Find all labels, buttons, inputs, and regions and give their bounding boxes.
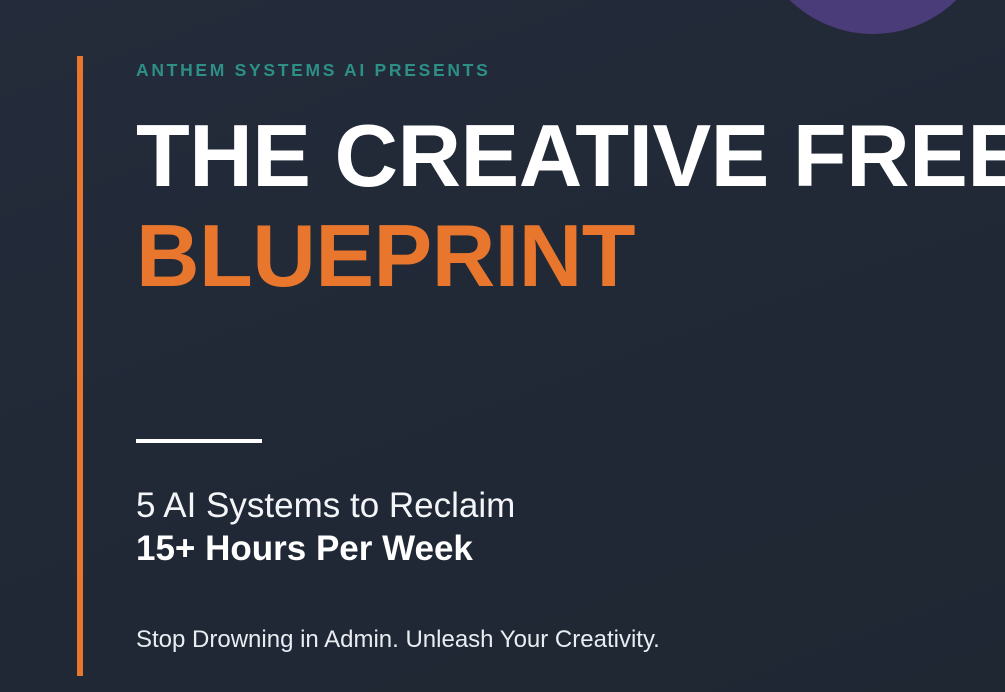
orange-accent-bar — [77, 56, 83, 676]
tagline: Stop Drowning in Admin. Unleash Your Cre… — [136, 624, 660, 656]
subtitle-line-2-emphasis: 15+ Hours Per Week — [136, 527, 515, 570]
title-slide: ANTHEM SYSTEMS AI PRESENTS THE CREATIVE … — [0, 0, 1005, 692]
subtitle-line-1: 5 AI Systems to Reclaim — [136, 486, 515, 525]
headline-line-3-accent: BLUEPRINT — [136, 206, 1005, 306]
eyebrow-presenter-label: ANTHEM SYSTEMS AI PRESENTS — [136, 60, 490, 81]
page-title: THE CREATIVE FREEDOM BLUEPRINT — [136, 106, 1005, 306]
subtitle: 5 AI Systems to Reclaim 15+ Hours Per We… — [136, 484, 515, 570]
headline-line-1: THE CREATIVE — [136, 106, 769, 205]
divider-rule — [136, 439, 262, 443]
slide-content: ANTHEM SYSTEMS AI PRESENTS THE CREATIVE … — [136, 0, 1005, 692]
headline-line-2: FREEDOM — [793, 106, 1005, 205]
